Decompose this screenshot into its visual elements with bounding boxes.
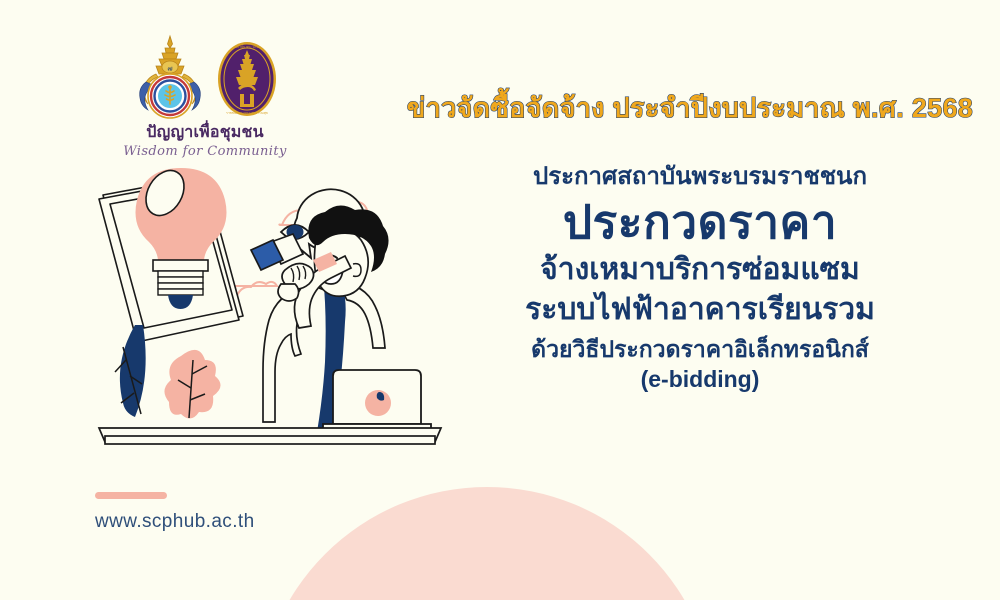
logo-row: ๗	[110, 32, 300, 122]
logo-block: ๗	[110, 32, 300, 159]
logo-motto-english: Wisdom for Community	[110, 144, 300, 159]
navy-leaf-icon	[120, 325, 146, 417]
announcement-block: ประกาศสถาบันพระบรมราชชนก ประกวดราคา จ้าง…	[440, 162, 960, 393]
desk-surface	[99, 428, 441, 444]
page-headline: ข่าวจัดซื้อจัดจ้าง ประจำปีงบประมาณ พ.ศ. …	[400, 86, 980, 129]
logo-motto-thai: ปัญญาเพื่อชุมชน	[110, 124, 300, 142]
decorative-circle	[258, 487, 716, 600]
svg-text:สถาบัน พระ บรม: สถาบัน พระ บรม	[235, 45, 258, 49]
announcement-body-line-2: ระบบไฟฟ้าอาคารเรียนรวม	[440, 290, 960, 330]
announcement-organization: ประกาศสถาบันพระบรมราชชนก	[440, 162, 960, 192]
cloud-small-icon	[235, 282, 277, 296]
footer-url[interactable]: www.scphub.ac.th	[95, 511, 255, 533]
footer-url-block: www.scphub.ac.th	[95, 492, 255, 533]
royal-crown-emblem-icon: ๗	[132, 34, 208, 122]
announcement-body-line-1: จ้างเหมาบริการซ่อมแซม	[440, 250, 960, 290]
poster-canvas: ๗	[0, 0, 1000, 600]
announcement-method: ด้วยวิธีประกวดราคาอิเล็กทรอนิกส์	[440, 335, 960, 364]
hero-illustration	[85, 160, 455, 460]
svg-text:๗: ๗	[167, 65, 172, 73]
laptop-icon	[323, 370, 431, 432]
announcement-method-en: (e-bidding)	[440, 365, 960, 394]
institute-seal-icon: สถาบัน พระ บรม ราชชนก กระทรวงสาธารณสุข	[216, 40, 278, 118]
url-rule-decoration	[95, 492, 167, 499]
announcement-title: ประกวดราคา	[440, 194, 960, 250]
